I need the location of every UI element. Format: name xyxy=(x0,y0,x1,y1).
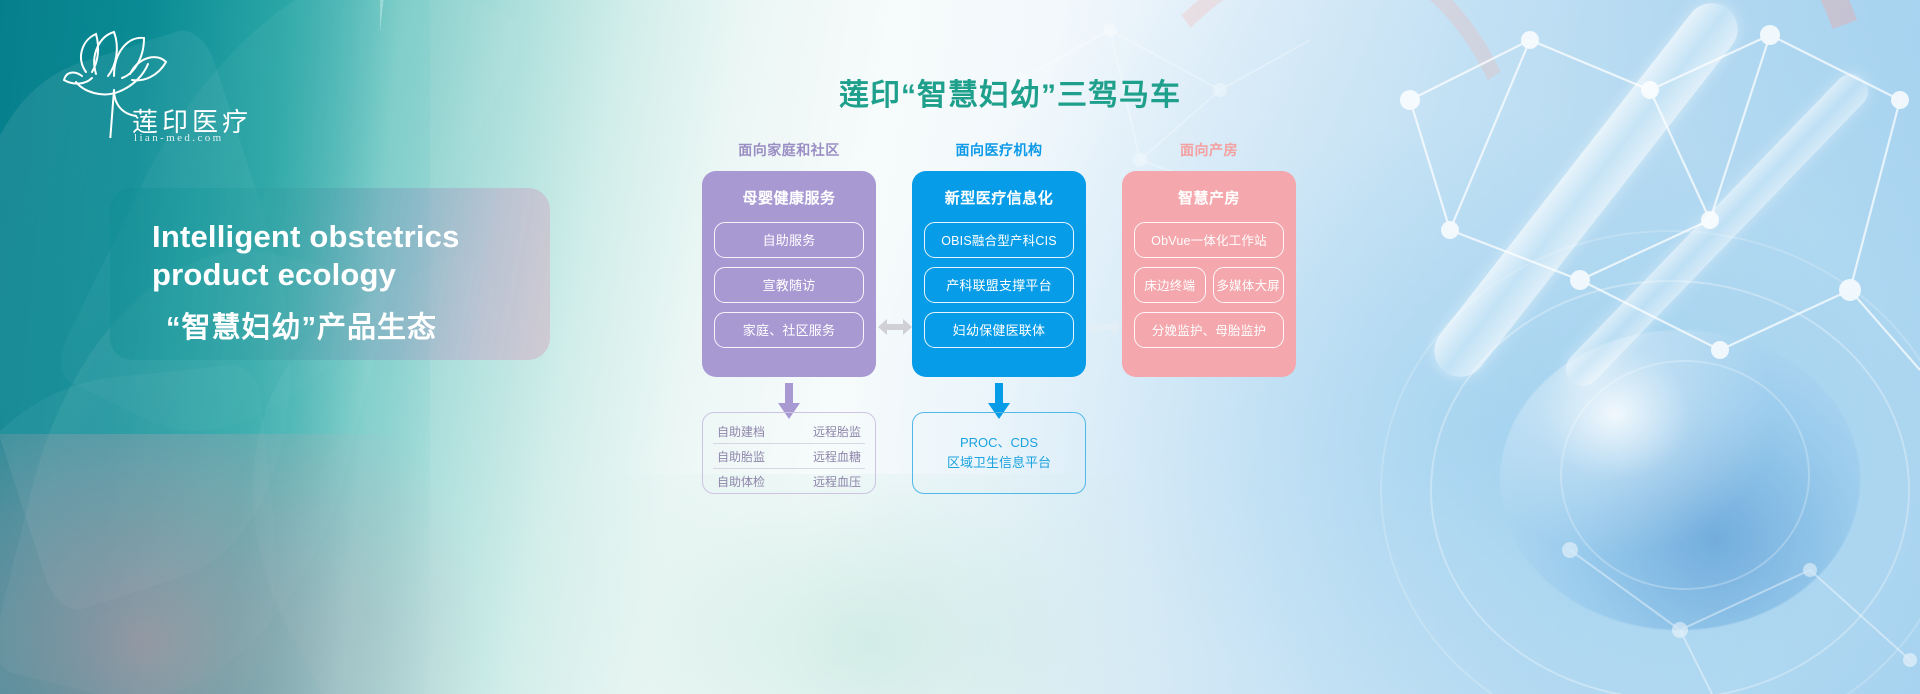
pill-obvue-workstation[interactable]: ObVue一体化工作站 xyxy=(1134,222,1284,258)
company-logo: 莲印医疗 lian-med.com xyxy=(52,18,242,138)
double-arrow-icon xyxy=(1088,316,1122,338)
column-medical-institutions: 面向医疗机构 新型医疗信息化 OBIS融合型产科CIS 产科联盟支撑平台 妇幼保… xyxy=(912,140,1086,377)
bottom-cell-left: 自助体检 xyxy=(717,473,765,490)
pill-maternal-child-consortium[interactable]: 妇幼保健医联体 xyxy=(924,312,1074,348)
pill-self-service[interactable]: 自助服务 xyxy=(714,222,864,258)
pill-bedside-terminal[interactable]: 床边终端 xyxy=(1134,267,1206,303)
card-maternal-health[interactable]: 母婴健康服务 自助服务 宣教随访 家庭、社区服务 xyxy=(702,171,876,377)
hero-title-cn: “智慧妇幼”产品生态 xyxy=(152,304,572,346)
hero-text-block: Intelligent obstetrics product ecology “… xyxy=(152,218,572,346)
hero-title-en: Intelligent obstetrics product ecology xyxy=(152,218,572,294)
bottom-box-self-service-list: 自助建档 远程胎监 自助胎监 远程血糖 自助体检 远程血压 xyxy=(702,412,876,494)
pill-family-community-service[interactable]: 家庭、社区服务 xyxy=(714,312,864,348)
card-smart-delivery-room[interactable]: 智慧产房 ObVue一体化工作站 床边终端 多媒体大屏 分娩监护、母胎监护 xyxy=(1122,171,1296,377)
slide-canvas: 莲印医疗 lian-med.com Intelligent obstetrics… xyxy=(0,0,1920,694)
pill-education-followup[interactable]: 宣教随访 xyxy=(714,267,864,303)
bottom-cell-right: 远程血糖 xyxy=(813,448,861,465)
bottom-cell-left: 自助建档 xyxy=(717,423,765,440)
pill-multimedia-screen[interactable]: 多媒体大屏 xyxy=(1213,267,1285,303)
column-delivery-room: 面向产房 智慧产房 ObVue一体化工作站 床边终端 多媒体大屏 分娩监护、母胎… xyxy=(1122,140,1296,377)
column-header-2: 面向医疗机构 xyxy=(912,140,1086,160)
card-title-2: 新型医疗信息化 xyxy=(924,187,1074,208)
bottom-cell-left: 自助胎监 xyxy=(717,448,765,465)
bottom-box-2-text: PROC、CDS 区域卫生信息平台 xyxy=(947,433,1051,473)
bottom-row: 自助建档 远程胎监 xyxy=(713,419,865,444)
double-arrow-icon xyxy=(878,316,912,338)
pill-obis-cis[interactable]: OBIS融合型产科CIS xyxy=(924,222,1074,258)
diagram-title: 莲印“智慧妇幼”三驾马车 xyxy=(690,70,1330,114)
logo-url: lian-med.com xyxy=(134,132,224,144)
card-title-3: 智慧产房 xyxy=(1134,187,1284,208)
column-header-1: 面向家庭和社区 xyxy=(702,140,876,160)
bottom-cell-right: 远程胎监 xyxy=(813,423,861,440)
bottom-box-regional-platform: PROC、CDS 区域卫生信息平台 xyxy=(912,412,1086,494)
pill-obstetric-alliance-platform[interactable]: 产科联盟支撑平台 xyxy=(924,267,1074,303)
pill-delivery-fetal-monitoring[interactable]: 分娩监护、母胎监护 xyxy=(1134,312,1284,348)
bottom-cell-right: 远程血压 xyxy=(813,473,861,490)
pill-row-terminals: 床边终端 多媒体大屏 xyxy=(1134,267,1284,303)
bottom-row: 自助胎监 远程血糖 xyxy=(713,444,865,469)
card-medical-informatization[interactable]: 新型医疗信息化 OBIS融合型产科CIS 产科联盟支撑平台 妇幼保健医联体 xyxy=(912,171,1086,377)
bottom-row: 自助体检 远程血压 xyxy=(713,469,865,493)
column-header-3: 面向产房 xyxy=(1122,140,1296,160)
column-family-community: 面向家庭和社区 母婴健康服务 自助服务 宣教随访 家庭、社区服务 xyxy=(702,140,876,377)
card-title-1: 母婴健康服务 xyxy=(714,187,864,208)
